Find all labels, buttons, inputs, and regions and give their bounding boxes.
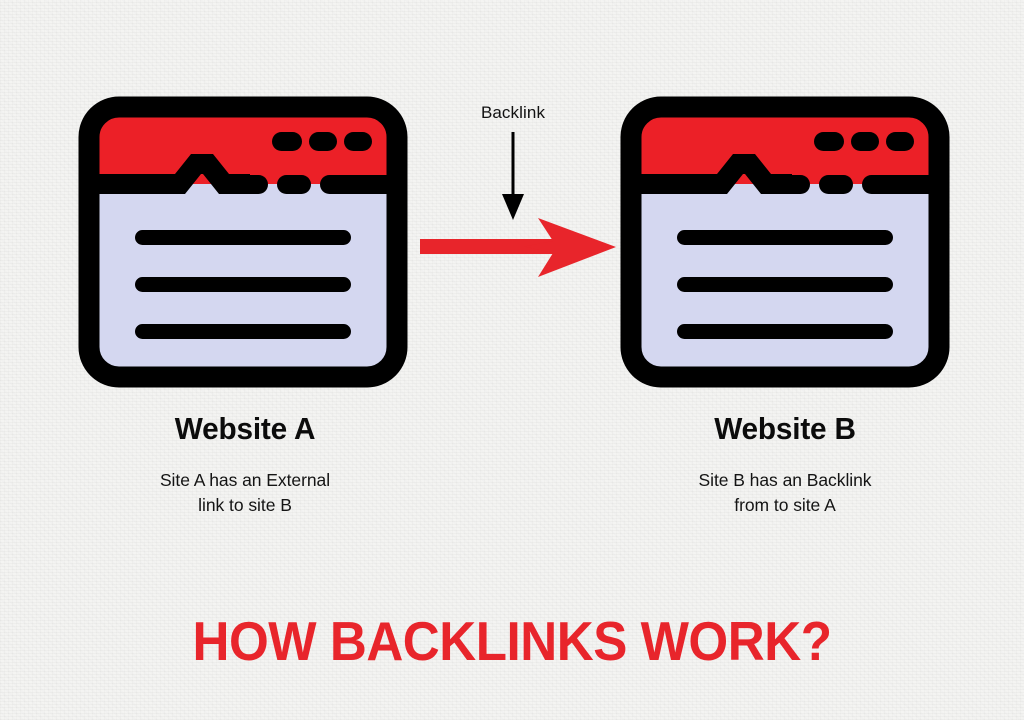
backlink-label-text: Backlink	[481, 103, 545, 123]
site-caption-website-a: Website A Site A has an External link to…	[35, 410, 455, 518]
site-description-a: Site A has an External link to site B	[35, 448, 455, 518]
site-description-a-line1: Site A has an External	[35, 468, 455, 493]
browser-window-icon-website-a	[78, 96, 408, 388]
site-description-b-line2: from to site A	[575, 493, 995, 518]
headline: HOW BACKLINKS WORK?	[36, 608, 988, 674]
site-title-b: Website B	[583, 410, 986, 448]
site-caption-website-b: Website B Site B has an Backlink from to…	[575, 410, 995, 518]
browser-window-icon-website-b	[620, 96, 950, 388]
site-title-a: Website A	[43, 410, 446, 448]
site-description-a-line2: link to site B	[35, 493, 455, 518]
site-description-b-line1: Site B has an Backlink	[575, 468, 995, 493]
arrow-down-icon	[488, 130, 538, 222]
arrow-right-icon	[420, 212, 624, 282]
site-description-b: Site B has an Backlink from to site A	[575, 448, 995, 518]
